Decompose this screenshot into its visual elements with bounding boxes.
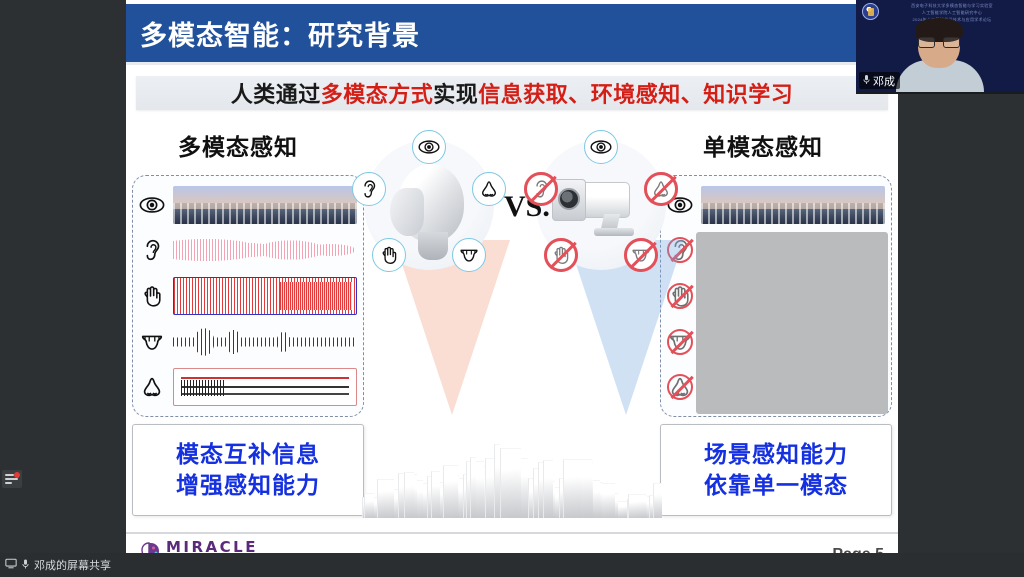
modality-row bbox=[137, 275, 357, 317]
ear-icon bbox=[137, 235, 167, 265]
subtitle-highlight-1: 多模态方式 bbox=[321, 77, 434, 109]
modality-signal-nose bbox=[173, 368, 357, 406]
sense-badge-ear bbox=[352, 172, 386, 206]
screen-share-window: 多模态智能：研究背景 人类通过多模态方式实现信息获取、环境感知、知识学习 多模态… bbox=[0, 0, 1024, 577]
modality-signal-ear bbox=[173, 231, 357, 269]
sense-badge-ear bbox=[524, 172, 558, 206]
right-conclusion-line-1: 场景感知能力 bbox=[704, 439, 848, 470]
slide-title: 多模态智能：研究背景 bbox=[126, 4, 898, 62]
building-shape bbox=[470, 457, 476, 518]
modality-signal-eye bbox=[173, 186, 357, 224]
comparison-diagram: VS. bbox=[358, 118, 678, 418]
modality-signal-hand bbox=[173, 277, 357, 315]
participant-name-tag: 邓成 bbox=[859, 72, 900, 89]
sense-badge-eye bbox=[584, 130, 618, 164]
building-shape bbox=[443, 465, 458, 518]
multimodal-sensor-panel bbox=[132, 175, 364, 417]
building-shape bbox=[377, 479, 394, 518]
modality-row bbox=[665, 184, 885, 226]
building-shape bbox=[543, 460, 553, 518]
sense-badge-hand bbox=[544, 238, 578, 272]
modality-row bbox=[137, 321, 357, 363]
left-conclusion-box: 模态互补信息 增强感知能力 bbox=[132, 424, 364, 516]
building-shape bbox=[628, 494, 645, 518]
modality-signal-tongue bbox=[173, 323, 357, 361]
screen-share-icon bbox=[5, 558, 17, 572]
sense-badge-eye bbox=[412, 130, 446, 164]
modality-row bbox=[137, 184, 357, 226]
sense-badge-tongue bbox=[452, 238, 486, 272]
subtitle-highlight-2: 信息获取、环境感知、知识学习 bbox=[478, 77, 793, 109]
subtitle-part-2: 实现 bbox=[433, 77, 478, 109]
screen-share-status-bar: 邓成的屏幕共享 bbox=[0, 553, 1024, 577]
right-conclusion-box: 场景感知能力 依靠单一模态 bbox=[660, 424, 892, 516]
sense-badge-nose bbox=[472, 172, 506, 206]
building-shape bbox=[431, 471, 440, 518]
sense-badge-hand bbox=[372, 238, 406, 272]
sense-badge-tongue bbox=[624, 238, 658, 272]
left-conclusion-line-2: 增强感知能力 bbox=[176, 470, 320, 501]
building-shape bbox=[579, 459, 592, 518]
building-shape bbox=[364, 493, 374, 518]
building-shape bbox=[404, 472, 414, 518]
modality-row bbox=[137, 366, 357, 408]
modality-row bbox=[137, 229, 357, 271]
disabled-modality-overlay bbox=[696, 232, 888, 414]
building-shape bbox=[563, 459, 580, 518]
right-conclusion-line-2: 依靠单一模态 bbox=[704, 470, 848, 501]
hand-icon bbox=[137, 281, 167, 311]
nose-icon bbox=[137, 372, 167, 402]
sense-badge-nose bbox=[644, 172, 678, 206]
building-shape bbox=[494, 444, 500, 518]
right-column-heading: 单模态感知 bbox=[703, 128, 823, 162]
participant-video-tile[interactable]: 西安电子科技大学多模态智能与学习实验室 人工智能学院人工智能研究中心 2024年… bbox=[856, 0, 1024, 94]
surveillance-camera-illustration bbox=[550, 176, 654, 236]
participant-webcam-image bbox=[894, 20, 986, 92]
microphone-icon bbox=[21, 558, 30, 573]
footer-divider bbox=[126, 532, 898, 534]
building-shape bbox=[485, 458, 494, 518]
left-column-heading: 多模态感知 bbox=[178, 128, 298, 162]
modality-signal-eye bbox=[701, 186, 885, 224]
tongue-icon bbox=[137, 327, 167, 357]
eye-icon bbox=[137, 190, 167, 220]
subtitle-part-1: 人类通过 bbox=[231, 77, 321, 109]
building-shape bbox=[653, 483, 663, 518]
recording-indicator-icon[interactable] bbox=[2, 470, 22, 488]
city-skyline-illustration bbox=[362, 398, 662, 518]
share-status-label: 邓成的屏幕共享 bbox=[34, 557, 111, 573]
building-shape bbox=[500, 448, 518, 518]
slide-subtitle-banner: 人类通过多模态方式实现信息获取、环境感知、知识学习 bbox=[136, 76, 888, 110]
left-conclusion-line-1: 模态互补信息 bbox=[176, 439, 320, 470]
title-accent-bar bbox=[126, 62, 898, 65]
participant-name: 邓成 bbox=[873, 73, 895, 89]
microphone-icon bbox=[862, 74, 871, 88]
presentation-slide: 多模态智能：研究背景 人类通过多模态方式实现信息获取、环境感知、知识学习 多模态… bbox=[126, 0, 898, 577]
